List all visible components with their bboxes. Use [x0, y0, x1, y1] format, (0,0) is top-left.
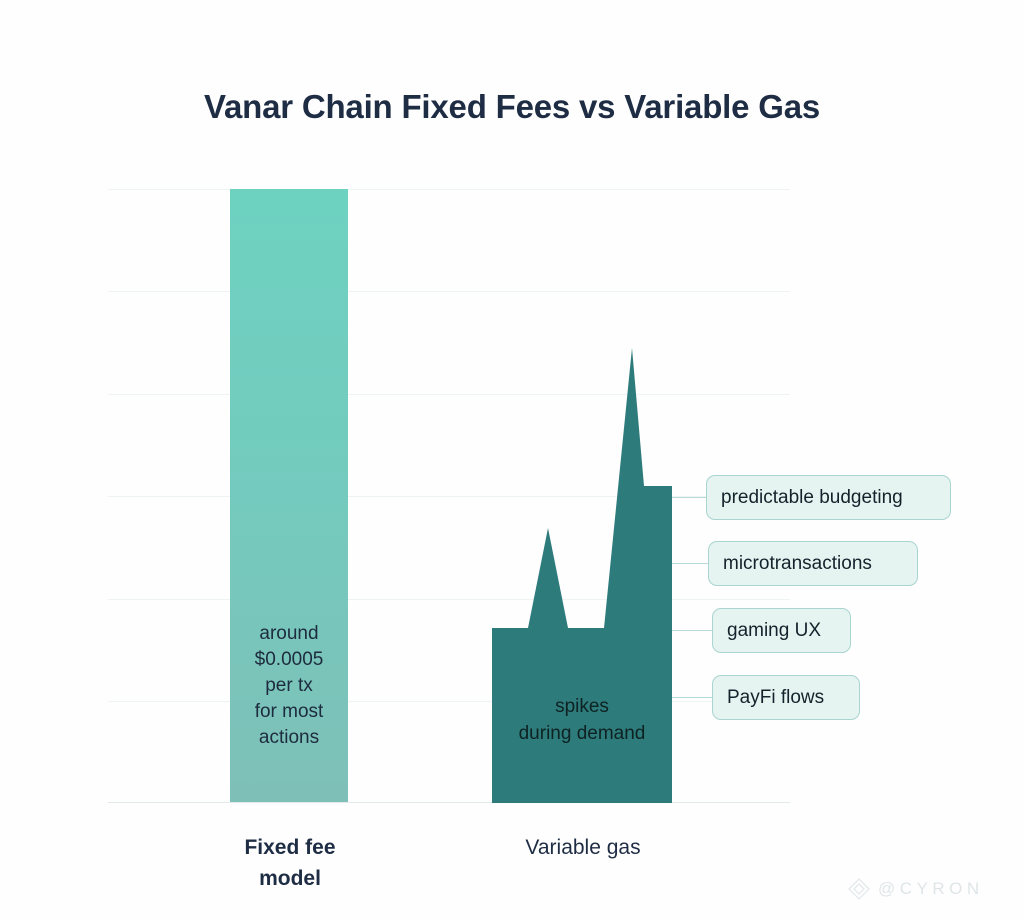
watermark-text: @CYRON: [878, 879, 984, 899]
axis-baseline: [108, 802, 790, 803]
gridline: [108, 189, 790, 190]
diamond-logo-icon: [846, 876, 872, 902]
callout-connector: [672, 697, 712, 698]
callout-connector: [672, 497, 708, 498]
gridline: [108, 599, 790, 600]
gridline: [108, 394, 790, 395]
gridline: [108, 701, 790, 702]
callout-connector: [672, 563, 708, 564]
page-title: Vanar Chain Fixed Fees vs Variable Gas: [0, 88, 1024, 126]
plot-area: around $0.0005 per tx for most actions s…: [108, 189, 790, 803]
callout-pill-predictable-budgeting[interactable]: predictable budgeting: [706, 475, 951, 520]
gridline: [108, 291, 790, 292]
callout-pill-label: PayFi flows: [727, 687, 824, 709]
bar-fixed-fee-model: around $0.0005 per tx for most actions: [230, 189, 348, 802]
callout-pill-gaming-ux[interactable]: gaming UX: [712, 608, 851, 653]
callout-connector: [672, 630, 712, 631]
callout-pill-microtransactions[interactable]: microtransactions: [708, 541, 918, 586]
callout-pill-payfi-flows[interactable]: PayFi flows: [712, 675, 860, 720]
callout-pill-label: microtransactions: [723, 553, 872, 575]
callout-pill-label: predictable budgeting: [721, 487, 903, 509]
category-label-fixed-fee-model: Fixed fee model: [180, 832, 400, 894]
callout-pill-label: gaming UX: [727, 620, 821, 642]
bar-variable-gas: spikes during demand: [492, 188, 672, 803]
chart-canvas: Vanar Chain Fixed Fees vs Variable Gas a…: [0, 0, 1024, 920]
category-label-variable-gas: Variable gas: [473, 832, 693, 863]
bar-variable-inline-label: spikes during demand: [492, 693, 672, 747]
watermark: @CYRON: [846, 876, 984, 902]
bar-fixed-inline-label: around $0.0005 per tx for most actions: [230, 621, 348, 751]
